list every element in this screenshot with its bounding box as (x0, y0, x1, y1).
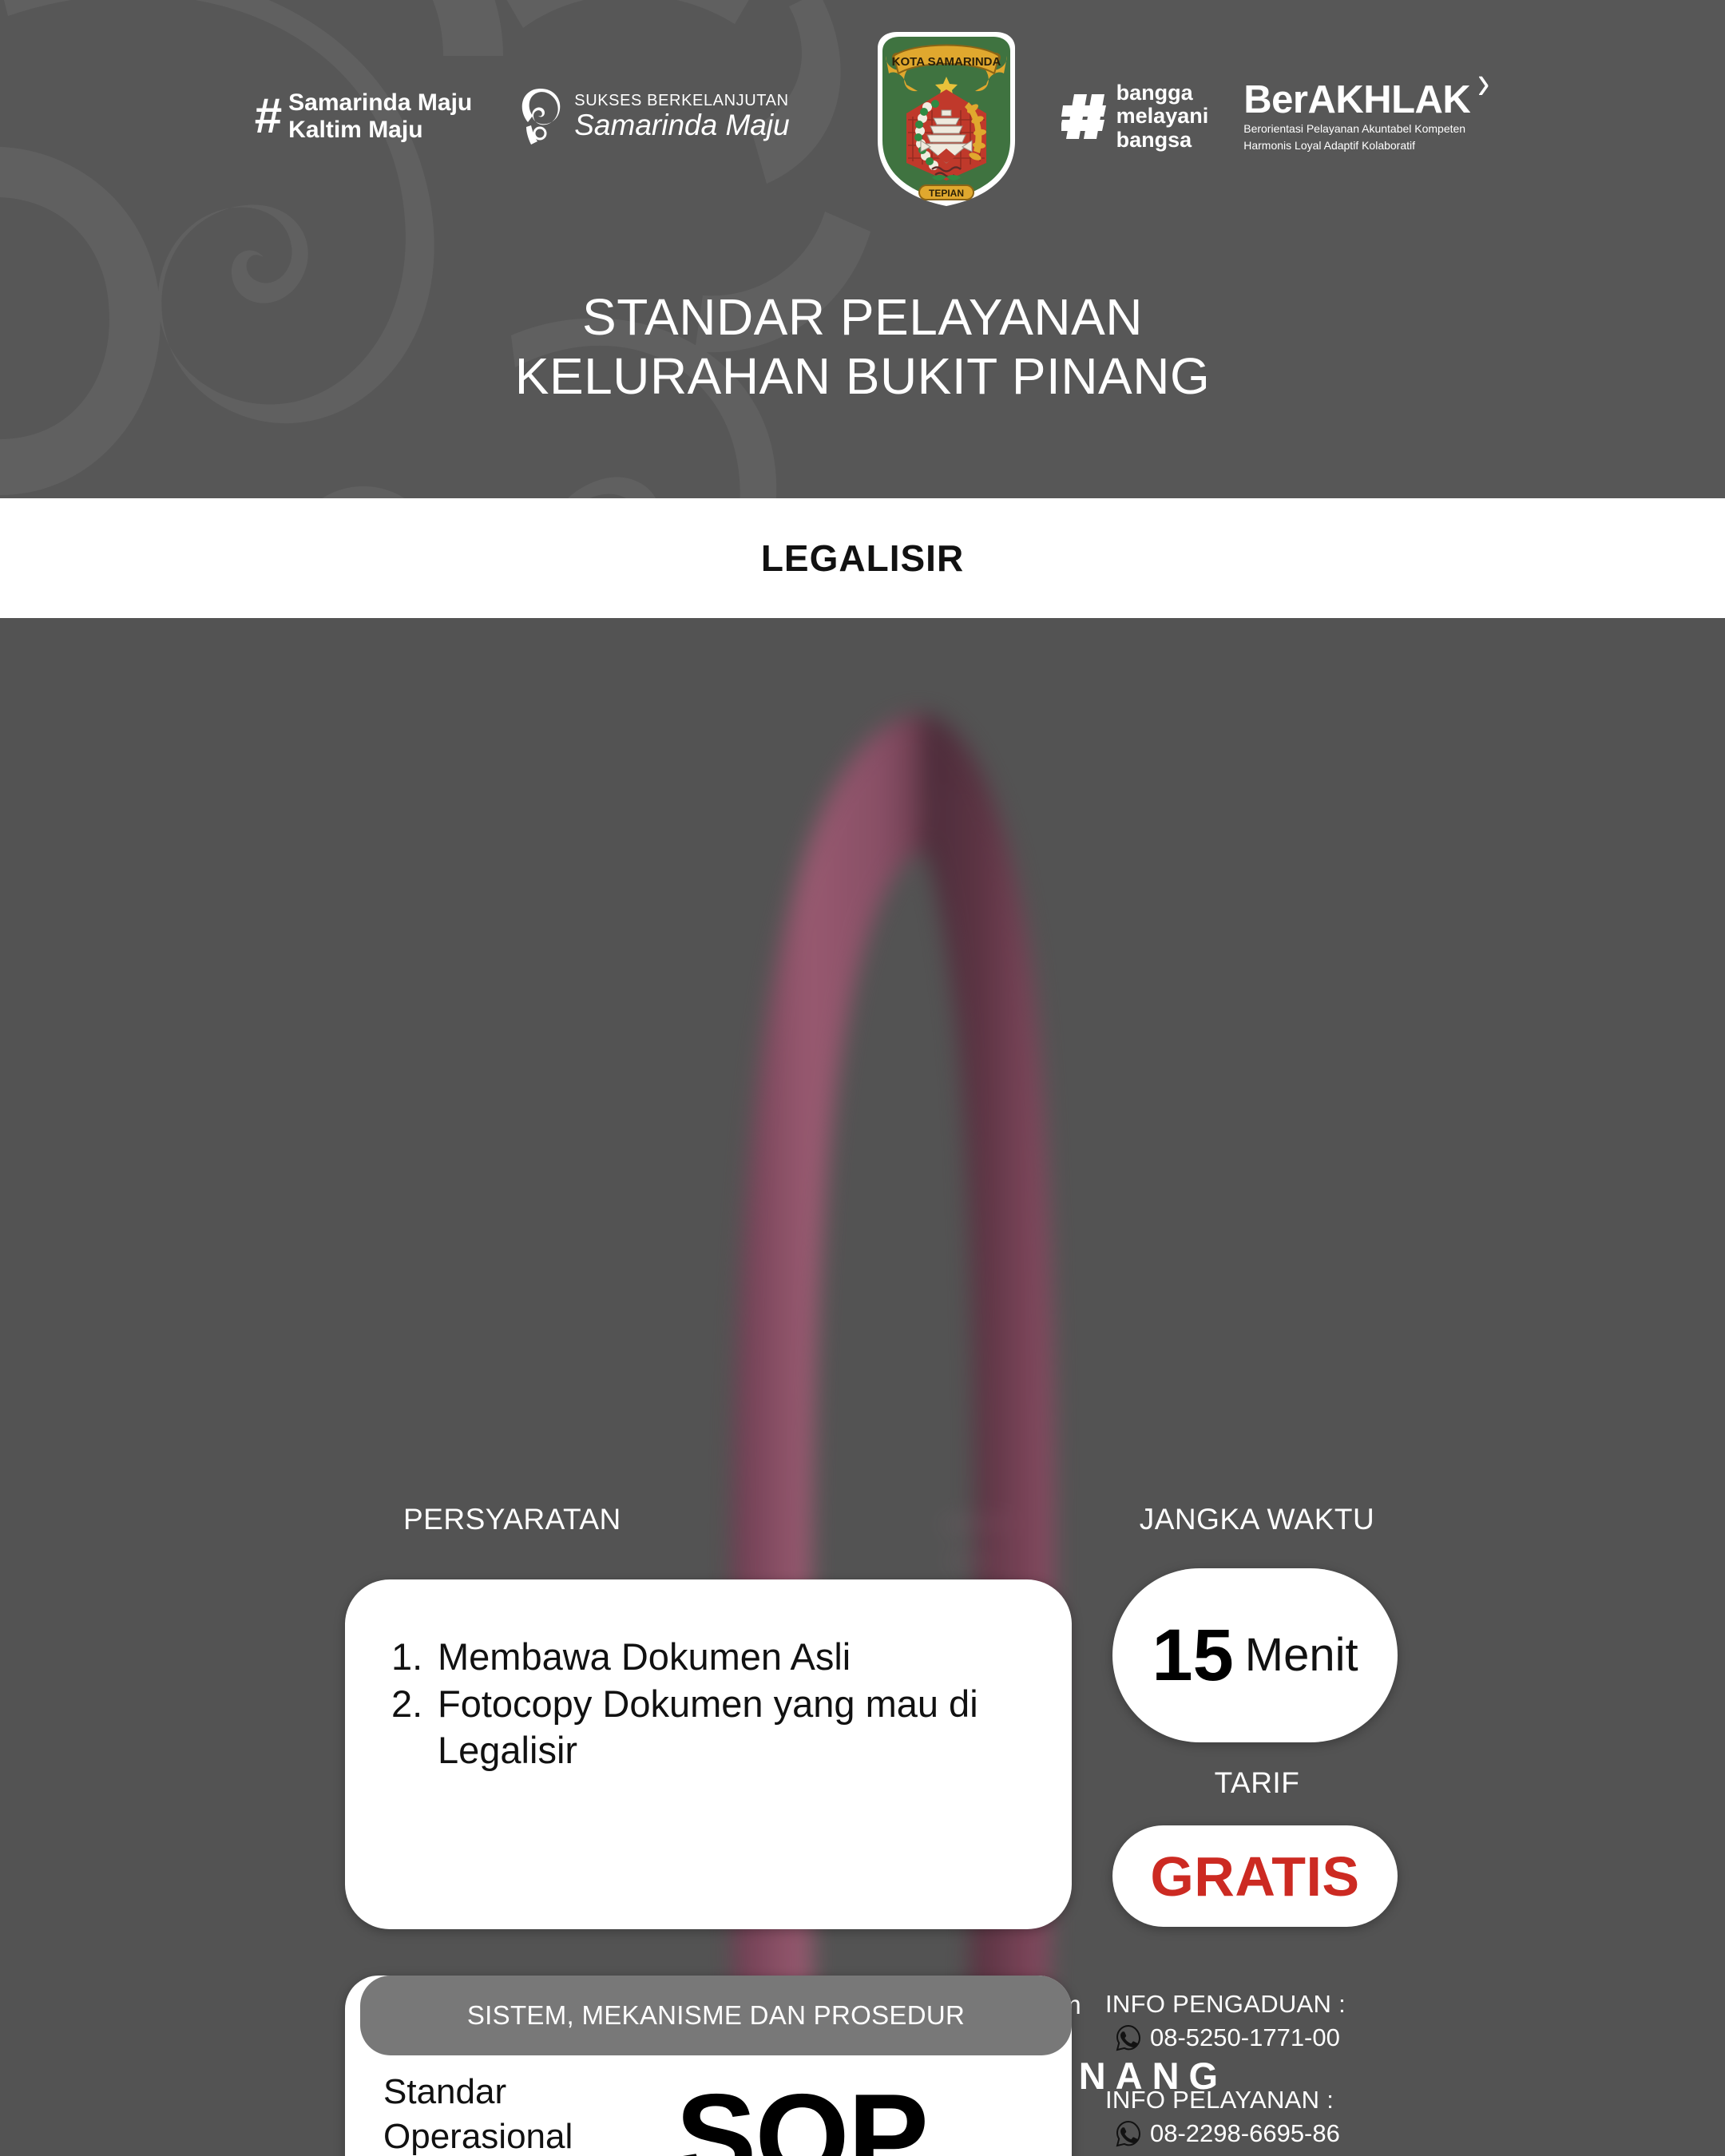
berakhlak-sub-2: Harmonis Loyal Adaptif Kolaboratif (1243, 139, 1470, 153)
procedure-phrase-line-1: Standar (383, 2070, 647, 2114)
whatsapp-icon (1115, 2120, 1142, 2147)
hashtag-line-1: Samarinda Maju (288, 89, 472, 117)
chevron-right-icon: › (1477, 54, 1489, 109)
bangga-melayani-bangsa-logo: bangga melayani bangsa (1061, 81, 1209, 151)
hash-icon: # (255, 94, 280, 139)
berakhlak-sub-1: Berorientasi Pelayanan Akuntabel Kompete… (1243, 122, 1470, 137)
requirements-label: PERSYARATAN (403, 1503, 621, 1536)
complaint-contact-row[interactable]: 08-5250-1771-00 (1105, 2023, 1409, 2052)
kota-samarinda-emblem-icon: KOTA SAMARINDA (866, 21, 1026, 212)
contact-spacer (1105, 2052, 1409, 2086)
procedure-acronym: SOP (676, 2076, 927, 2156)
sukses-tagline: SUKSES BERKELANJUTAN (574, 92, 789, 110)
duration-pill: 15 Menit (1112, 1568, 1398, 1742)
berakhlak-wordmark: BerAKHLAK (1243, 81, 1470, 120)
sukses-berkelanjutan-logo: SUKSES BERKELANJUTAN Samarinda Maju (517, 87, 789, 146)
complaint-phone-number: 08-5250-1771-00 (1150, 2023, 1340, 2052)
service-name-band: LEGALISIR (0, 498, 1725, 618)
bangga-hash-icon (1061, 91, 1108, 142)
emblem-top-text: KOTA SAMARINDA (891, 55, 1001, 69)
requirements-list: Membawa Dokumen Asli Fotocopy Dokumen ya… (388, 1634, 1029, 1773)
logo-row: # Samarinda Maju Kaltim Maju SUKSES BERK… (0, 21, 1725, 212)
procedure-card: SISTEM, MEKANISME DAN PROSEDUR Standar O… (345, 1976, 1072, 2156)
procedure-phrase-line-2: Operasional (383, 2114, 647, 2156)
requirement-item: Membawa Dokumen Asli (388, 1634, 1029, 1679)
berakhlak-logo: BerAKHLAK › Berorientasi Pelayanan Akunt… (1243, 81, 1470, 153)
requirements-card: Membawa Dokumen Asli Fotocopy Dokumen ya… (345, 1579, 1072, 1929)
bangga-line-1: bangga (1116, 81, 1209, 105)
tariff-label: TARIF (1121, 1766, 1393, 1800)
complaint-info-label: INFO PENGADUAN : (1105, 1990, 1409, 2019)
service-info-label: INFO PELAYANAN : (1105, 2086, 1409, 2114)
hashtag-line-2: Kaltim Maju (288, 117, 472, 144)
duration-label: JANGKA WAKTU (1121, 1503, 1393, 1536)
bangga-line-2: melayani (1116, 105, 1209, 128)
page-title-line-1: STANDAR PELAYANAN (0, 287, 1725, 347)
duration-unit: Menit (1245, 1632, 1358, 1678)
page-title-line-2: KELURAHAN BUKIT PINANG (0, 347, 1725, 406)
poster-header: # Samarinda Maju Kaltim Maju SUKSES BERK… (0, 0, 1725, 498)
procedure-card-header: SISTEM, MEKANISME DAN PROSEDUR (360, 1976, 1072, 2055)
tariff-value: GRATIS (1150, 1845, 1359, 1908)
tariff-pill: GRATIS (1112, 1825, 1398, 1927)
service-contact-row[interactable]: 08-2298-6695-86 (1105, 2119, 1409, 2148)
service-standard-poster: # Samarinda Maju Kaltim Maju SUKSES BERK… (0, 0, 1725, 2156)
procedure-card-body: Standar Operasional Pelayanan SOP (345, 2070, 1072, 2156)
service-phone-number: 08-2298-6695-86 (1150, 2119, 1340, 2148)
contact-info: INFO PENGADUAN : 08-5250-1771-00 INFO PE… (1105, 1990, 1409, 2148)
samarinda-maju-hashtag-logo: # Samarinda Maju Kaltim Maju (255, 89, 473, 143)
duration-value: 15 (1152, 1619, 1233, 1692)
bangga-line-3: bangsa (1116, 129, 1209, 152)
requirement-item: Fotocopy Dokumen yang mau di Legalisir (388, 1681, 1029, 1773)
procedure-phrase: Standar Operasional Pelayanan (383, 2070, 647, 2156)
whatsapp-icon (1115, 2024, 1142, 2051)
page-title: STANDAR PELAYANAN KELURAHAN BUKIT PINANG (0, 287, 1725, 406)
poster-body: PERSYARATAN Membawa Dokumen Asli Fotocop… (0, 618, 1725, 2156)
sukses-wordmark: Samarinda Maju (574, 109, 789, 142)
service-name: LEGALISIR (761, 537, 964, 580)
emblem-bottom-text: TEPIAN (929, 188, 964, 199)
pesut-swirl-icon (517, 87, 566, 146)
